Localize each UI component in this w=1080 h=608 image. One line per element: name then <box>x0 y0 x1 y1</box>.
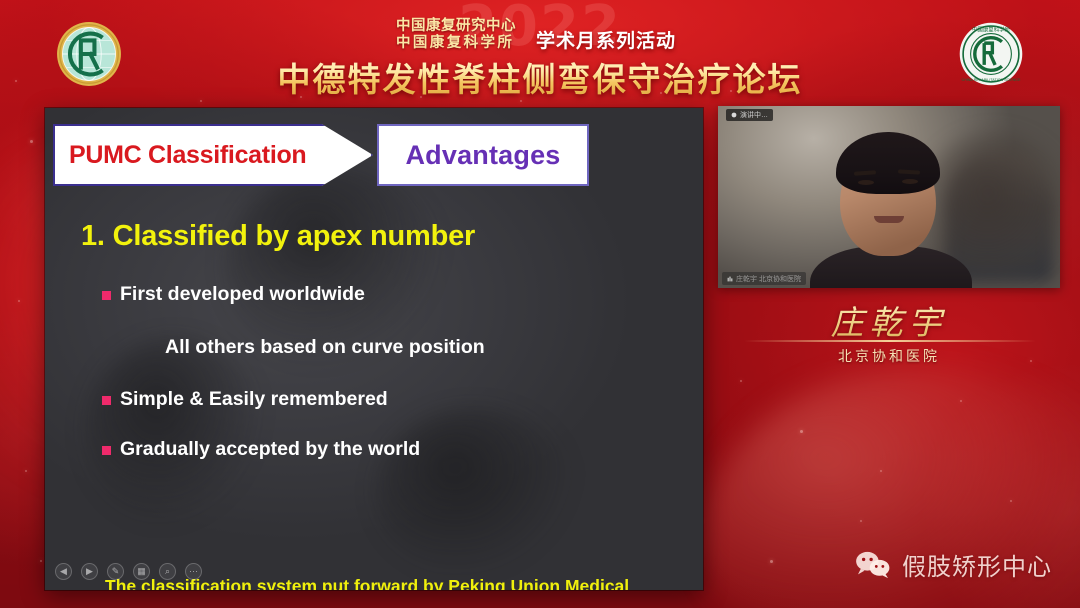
organizer-names: 中国康复研究中心 中国康复科学所 <box>396 18 516 51</box>
slide-banner: PUMC Classification Advantages <box>53 124 703 186</box>
speaker-eye-right <box>902 179 918 184</box>
channel-watermark: 假肢矫形中心 <box>854 547 1052 582</box>
series-tag: 学术月系列活动 <box>536 26 676 53</box>
svg-text:CHINA REHABILITATION SCIENCE: CHINA REHABILITATION SCIENCE <box>962 78 1022 82</box>
list-item: Gradually accepted by the world <box>120 438 420 461</box>
csr-logo: 中国康复科学所 CHINA REHABILITATION SCIENCE <box>957 20 1025 88</box>
speaker-mouth <box>874 216 904 223</box>
microphone-icon <box>731 112 737 118</box>
advantages-banner: Advantages <box>377 124 589 186</box>
watermark-label: 假肢矫形中心 <box>902 547 1052 582</box>
more-options-button[interactable]: ··· <box>185 563 202 580</box>
page-title: 中德特发性脊柱侧弯保守治疗论坛 <box>0 53 1080 101</box>
slide-texture-2 <box>85 338 265 528</box>
zoom-tool-button[interactable]: ⌕ <box>159 563 176 580</box>
video-status-badge: 演讲中… <box>726 109 773 121</box>
list-item: Simple & Easily remembered <box>120 388 388 411</box>
organizer-line-2: 中国康复科学所 <box>396 35 516 52</box>
video-status-label: 演讲中… <box>740 110 768 120</box>
speaker-video[interactable]: 演讲中… 庄乾宇 北京协和医院 <box>718 106 1060 288</box>
next-slide-button[interactable]: ▶ <box>81 563 98 580</box>
speaker-name: 庄乾宇 <box>718 296 1060 344</box>
presentation-slide[interactable]: PUMC Classification Advantages 1. Classi… <box>45 108 703 590</box>
organizer-line-1: 中国康复研究中心 <box>396 18 516 35</box>
speaker-divider <box>744 340 1036 342</box>
slide-texture-3 <box>375 408 575 578</box>
advantages-label: Advantages <box>405 140 560 171</box>
wechat-icon <box>854 550 892 580</box>
sub-note: All others based on curve position <box>165 336 485 359</box>
speaker-eye-left <box>858 180 874 185</box>
all-slides-button[interactable]: ▦ <box>133 563 150 580</box>
video-name-label: 庄乾宇 北京协和医院 <box>722 272 806 285</box>
pumc-classification-banner: PUMC Classification <box>53 124 373 186</box>
event-header: 2022 中国康复研究中心 中国康复科学所 学术月系列活动 中德特发性脊柱侧弯保… <box>0 0 1080 100</box>
video-name-text: 庄乾宇 北京协和医院 <box>736 274 801 284</box>
crrc-logo <box>55 20 123 88</box>
audio-level-icon <box>727 276 733 282</box>
list-item: First developed worldwide <box>120 283 365 306</box>
pumc-classification-label: PUMC Classification <box>55 141 306 170</box>
presenter-toolbar[interactable]: ◀▶✎▦⌕··· <box>55 560 202 582</box>
slide-heading: 1. Classified by apex number <box>81 220 475 253</box>
speaker-organization: 北京协和医院 <box>718 346 1060 366</box>
pen-tool-button[interactable]: ✎ <box>107 563 124 580</box>
previous-slide-button[interactable]: ◀ <box>55 563 72 580</box>
